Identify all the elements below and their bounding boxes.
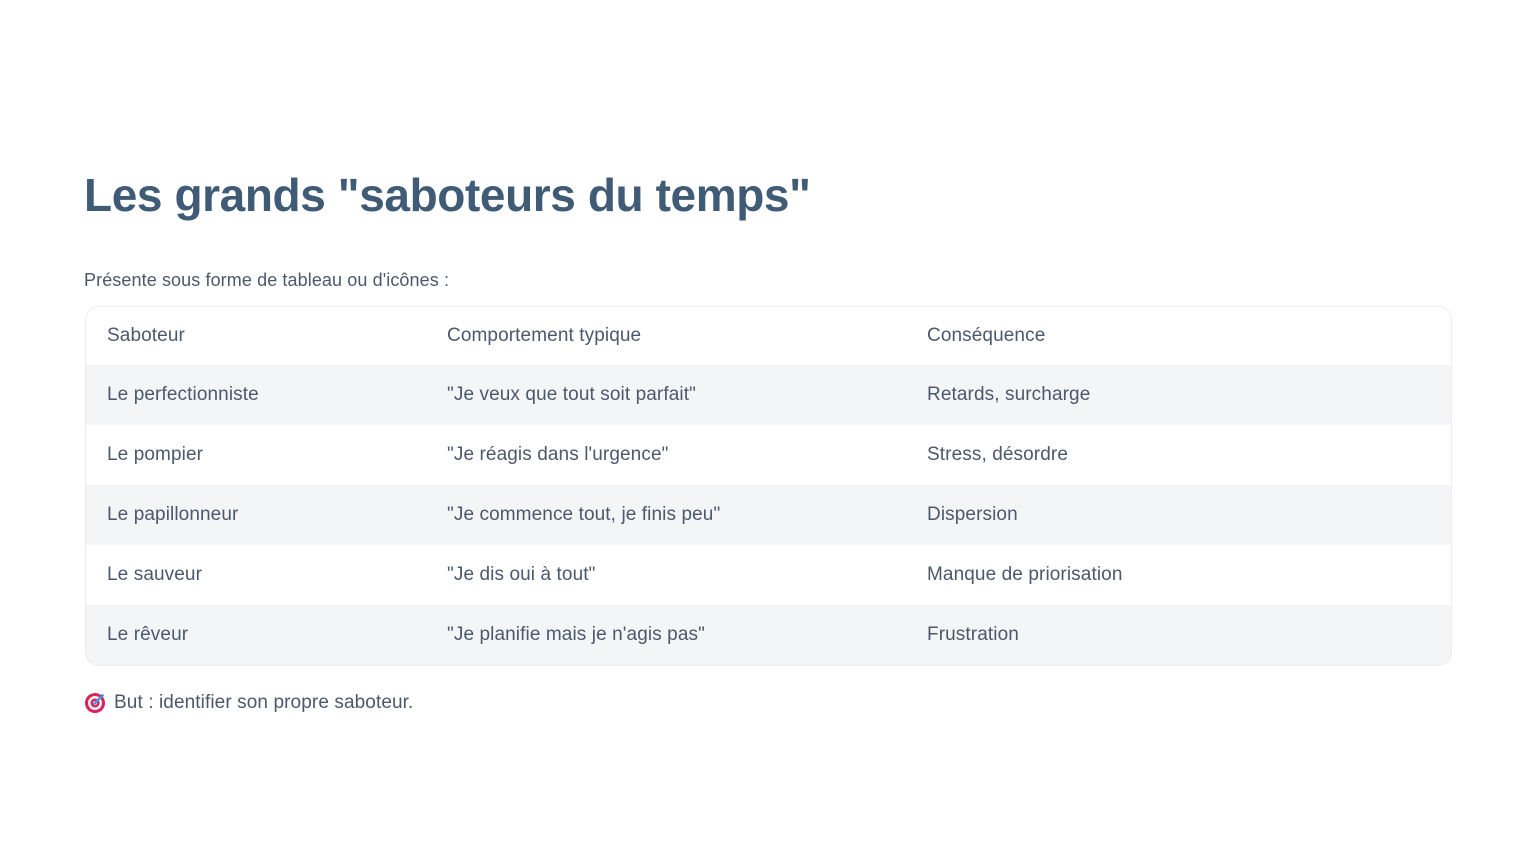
table-header: Saboteur Comportement typique Conséquenc… (86, 307, 1451, 365)
table-row: Le perfectionniste "Je veux que tout soi… (86, 365, 1451, 425)
table-row: Le pompier "Je réagis dans l'urgence" St… (86, 425, 1451, 485)
cell-saboteur: Le pompier (86, 425, 426, 485)
footnote: But : identifier son propre saboteur. (84, 692, 413, 714)
cell-consequence: Manque de priorisation (906, 545, 1451, 605)
table-row: Le papillonneur "Je commence tout, je fi… (86, 485, 1451, 545)
cell-saboteur: Le sauveur (86, 545, 426, 605)
cell-saboteur: Le papillonneur (86, 485, 426, 545)
cell-saboteur: Le perfectionniste (86, 365, 426, 425)
page-title: Les grands "saboteurs du temps" (84, 169, 811, 222)
cell-saboteur: Le rêveur (86, 605, 426, 665)
cell-comportement: "Je veux que tout soit parfait" (426, 365, 906, 425)
cell-comportement: "Je dis oui à tout" (426, 545, 906, 605)
slide-subtitle: Présente sous forme de tableau ou d'icôn… (84, 270, 449, 291)
saboteurs-table-card: Saboteur Comportement typique Conséquenc… (85, 306, 1452, 666)
target-dart-icon (84, 692, 106, 714)
table-body: Le perfectionniste "Je veux que tout soi… (86, 365, 1451, 665)
slide-canvas: Les grands "saboteurs du temps" Présente… (0, 0, 1536, 864)
footnote-text: But : identifier son propre saboteur. (114, 692, 413, 714)
column-header-comportement: Comportement typique (426, 307, 906, 365)
cell-consequence: Dispersion (906, 485, 1451, 545)
saboteurs-table: Saboteur Comportement typique Conséquenc… (86, 307, 1451, 665)
cell-comportement: "Je planifie mais je n'agis pas" (426, 605, 906, 665)
table-row: Le sauveur "Je dis oui à tout" Manque de… (86, 545, 1451, 605)
cell-comportement: "Je réagis dans l'urgence" (426, 425, 906, 485)
cell-consequence: Frustration (906, 605, 1451, 665)
column-header-saboteur: Saboteur (86, 307, 426, 365)
table-header-row: Saboteur Comportement typique Conséquenc… (86, 307, 1451, 365)
column-header-consequence: Conséquence (906, 307, 1451, 365)
table-row: Le rêveur "Je planifie mais je n'agis pa… (86, 605, 1451, 665)
cell-consequence: Stress, désordre (906, 425, 1451, 485)
cell-consequence: Retards, surcharge (906, 365, 1451, 425)
cell-comportement: "Je commence tout, je finis peu" (426, 485, 906, 545)
